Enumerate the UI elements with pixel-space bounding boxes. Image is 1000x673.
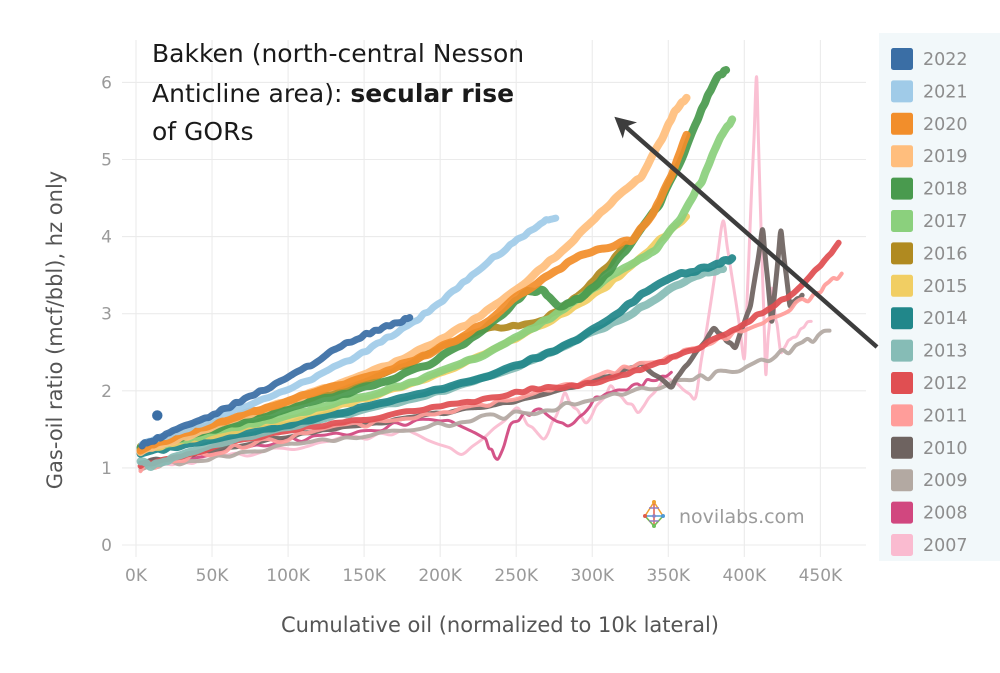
title-line-1: Bakken (north-central Nesson bbox=[152, 39, 524, 68]
legend-swatch[interactable] bbox=[891, 48, 913, 70]
data-point-marker bbox=[152, 410, 162, 420]
legend-swatch[interactable] bbox=[891, 469, 913, 491]
title-line-2-bold: secular rise bbox=[350, 79, 514, 108]
y-tick-label: 6 bbox=[101, 73, 112, 93]
legend-item-2019[interactable]: 2019 bbox=[891, 145, 968, 167]
legend-label[interactable]: 2013 bbox=[923, 342, 968, 362]
y-tick-label: 5 bbox=[101, 151, 112, 171]
legend-label[interactable]: 2008 bbox=[923, 504, 968, 524]
x-tick-label: 300K bbox=[570, 566, 614, 586]
legend-swatch[interactable] bbox=[891, 80, 913, 102]
legend-item-2012[interactable]: 2012 bbox=[891, 372, 968, 394]
legend-label[interactable]: 2010 bbox=[923, 439, 968, 459]
legend-item-2016[interactable]: 2016 bbox=[891, 242, 968, 264]
x-axis-title: Cumulative oil (normalized to 10k latera… bbox=[281, 613, 719, 637]
x-axis-ticks: 0K50K100K150K200K250K300K350K400K450K bbox=[125, 566, 843, 586]
series-line-2020 bbox=[141, 135, 687, 451]
legend-label[interactable]: 2017 bbox=[923, 212, 968, 232]
legend-item-2007[interactable]: 2007 bbox=[891, 534, 968, 556]
legend-swatch[interactable] bbox=[891, 145, 913, 167]
legend-swatch[interactable] bbox=[891, 340, 913, 362]
title-line-2: Anticline area): secular rise bbox=[152, 79, 514, 108]
y-tick-label: 1 bbox=[101, 459, 112, 479]
y-tick-label: 3 bbox=[101, 305, 112, 325]
chart-container: 0K50K100K150K200K250K300K350K400K450K 01… bbox=[0, 0, 1000, 669]
legend-label[interactable]: 2016 bbox=[923, 244, 968, 264]
legend-item-2015[interactable]: 2015 bbox=[891, 275, 968, 297]
legend-label[interactable]: 2020 bbox=[923, 115, 968, 135]
x-tick-label: 350K bbox=[646, 566, 690, 586]
chart-title-annotation: Bakken (north-central Nesson Anticline a… bbox=[152, 39, 524, 146]
title-line-3: of GORs bbox=[152, 117, 254, 146]
legend-item-2022[interactable]: 2022 bbox=[891, 48, 968, 70]
watermark: novilabs.com bbox=[643, 500, 805, 528]
legend-swatch[interactable] bbox=[891, 275, 913, 297]
legend-swatch[interactable] bbox=[891, 307, 913, 329]
legend-item-2010[interactable]: 2010 bbox=[891, 437, 968, 459]
legend-swatch[interactable] bbox=[891, 534, 913, 556]
legend-swatch[interactable] bbox=[891, 242, 913, 264]
x-tick-label: 250K bbox=[494, 566, 538, 586]
legend-label[interactable]: 2014 bbox=[923, 309, 968, 329]
x-tick-label: 200K bbox=[418, 566, 462, 586]
legend-label[interactable]: 2011 bbox=[923, 406, 968, 426]
legend-label[interactable]: 2019 bbox=[923, 147, 968, 167]
legend-swatch[interactable] bbox=[891, 502, 913, 524]
legend-label[interactable]: 2021 bbox=[923, 82, 968, 102]
y-tick-label: 0 bbox=[101, 536, 112, 556]
legend-swatch[interactable] bbox=[891, 113, 913, 135]
legend-item-2018[interactable]: 2018 bbox=[891, 178, 968, 200]
legend-item-2013[interactable]: 2013 bbox=[891, 340, 968, 362]
legend-item-2017[interactable]: 2017 bbox=[891, 210, 968, 232]
x-tick-label: 400K bbox=[723, 566, 767, 586]
legend-swatch[interactable] bbox=[891, 178, 913, 200]
y-tick-label: 2 bbox=[101, 382, 112, 402]
legend-item-2009[interactable]: 2009 bbox=[891, 469, 968, 491]
title-line-2-normal: Anticline area): bbox=[152, 79, 350, 108]
legend-item-2020[interactable]: 2020 bbox=[891, 113, 968, 135]
legend-label[interactable]: 2018 bbox=[923, 180, 968, 200]
x-tick-label: 100K bbox=[266, 566, 310, 586]
legend-swatch[interactable] bbox=[891, 210, 913, 232]
y-tick-label: 4 bbox=[101, 228, 112, 248]
x-tick-label: 0K bbox=[125, 566, 148, 586]
legend-label[interactable]: 2012 bbox=[923, 374, 968, 394]
legend-swatch[interactable] bbox=[891, 372, 913, 394]
legend-item-2014[interactable]: 2014 bbox=[891, 307, 968, 329]
y-axis-ticks: 0123456 bbox=[101, 73, 112, 556]
lattice-logo-icon bbox=[643, 500, 665, 528]
x-tick-label: 450K bbox=[799, 566, 843, 586]
gor-line-chart: 0K50K100K150K200K250K300K350K400K450K 01… bbox=[0, 0, 1000, 669]
legend-label[interactable]: 2009 bbox=[923, 471, 968, 491]
legend-label[interactable]: 2007 bbox=[923, 536, 968, 556]
legend-swatch[interactable] bbox=[891, 437, 913, 459]
x-tick-label: 150K bbox=[342, 566, 386, 586]
legend-label[interactable]: 2022 bbox=[923, 50, 968, 70]
legend-item-2021[interactable]: 2021 bbox=[891, 80, 968, 102]
legend-label[interactable]: 2015 bbox=[923, 277, 968, 297]
legend-item-2008[interactable]: 2008 bbox=[891, 502, 968, 524]
x-tick-label: 50K bbox=[196, 566, 230, 586]
y-axis-title: Gas-oil ratio (mcf/bbl), hz only bbox=[43, 171, 67, 489]
marker-points bbox=[152, 410, 162, 420]
legend-item-2011[interactable]: 2011 bbox=[891, 404, 968, 426]
watermark-label: novilabs.com bbox=[679, 506, 805, 528]
legend-swatch[interactable] bbox=[891, 404, 913, 426]
